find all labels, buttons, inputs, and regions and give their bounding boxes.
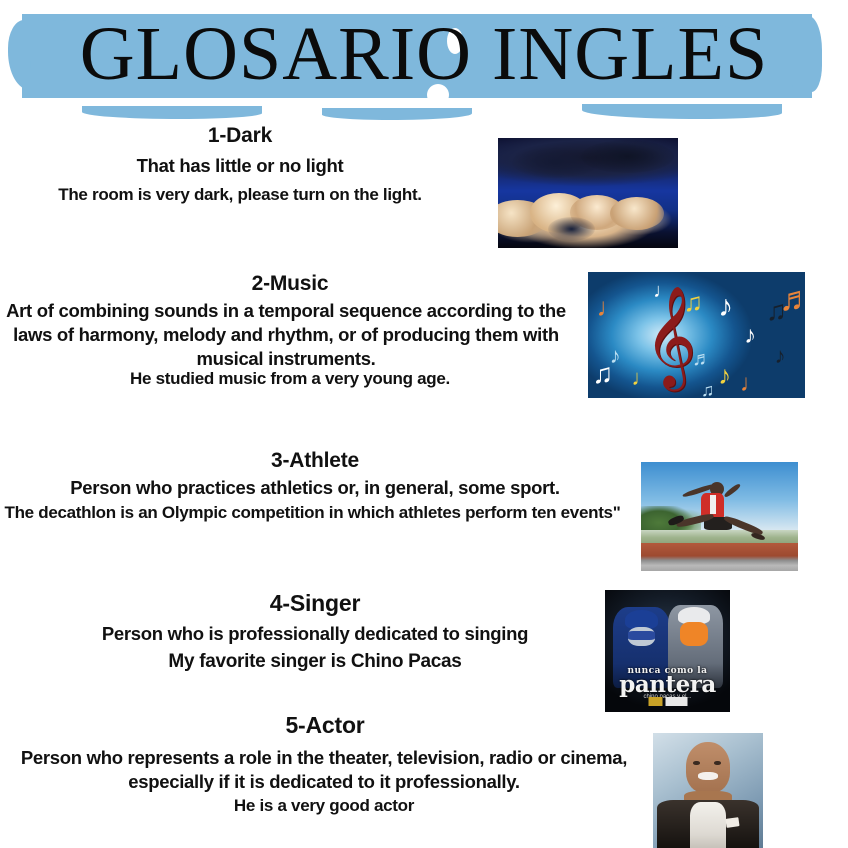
- music-note-icon: ♩: [631, 365, 653, 391]
- actor-head: [686, 742, 730, 793]
- actor-smile: [698, 772, 718, 780]
- music-note-icon: ♪: [775, 343, 786, 369]
- music-note-icon: ♩: [597, 292, 623, 323]
- entry-definition: Person who represents a role in the thea…: [0, 746, 648, 794]
- parental-advisory-badge: [648, 697, 687, 706]
- actor-eye-right: [714, 761, 722, 766]
- poster-page: GLOSARIO INGLES 1-Dark That has little o…: [0, 0, 848, 848]
- music-note-icon: ♬: [779, 280, 805, 319]
- track-layer: [641, 543, 798, 571]
- dark-cloud-blob: [548, 217, 595, 241]
- entry-image-music: 𝄞 ♫ ♪ ♪ ♫ ♬ ♩ ♪ ♫ ♩ ♪ ♩ ♬ ♪ ♩ ♫: [588, 272, 805, 398]
- entry-image-actor: [653, 733, 763, 848]
- music-note-icon: ♬: [692, 348, 712, 371]
- cloud-blob: [610, 197, 664, 230]
- music-note-icon: ♪: [718, 290, 733, 324]
- entry-definition: Art of combining sounds in a temporal se…: [0, 299, 572, 371]
- actor-shirt: [690, 802, 725, 848]
- album-bandana-left: [628, 631, 656, 640]
- entry-example: He studied music from a very young age.: [60, 367, 520, 390]
- music-note-icon: ♫: [683, 287, 703, 318]
- entry-example: The decathlon is an Olympic competition …: [0, 501, 625, 524]
- music-note-icon: ♪: [744, 322, 756, 350]
- entry-example: The room is very dark, please turn on th…: [10, 183, 470, 206]
- dark-cloud-blob: [581, 140, 675, 173]
- entry-example: My favorite singer is Chino Pacas: [40, 650, 590, 673]
- entry-example: He is a very good actor: [0, 794, 648, 817]
- entry-term: 5-Actor: [110, 712, 540, 738]
- brush-splat: [582, 104, 782, 119]
- music-note-icon: ♫: [701, 380, 715, 398]
- music-note-icon: ♩: [740, 370, 764, 398]
- entry-term: 3-Athlete: [100, 448, 530, 474]
- entry-definition: Person who is professionally dedicated t…: [40, 622, 590, 646]
- music-note-icon: ♪: [718, 360, 731, 391]
- entry-image-athlete: [641, 462, 798, 571]
- music-note-icon: ♫: [592, 358, 613, 390]
- album-bandana-right: [680, 622, 708, 646]
- entry-term: 2-Music: [80, 271, 500, 297]
- page-title: GLOSARIO INGLES: [0, 8, 848, 100]
- entry-term: 1-Dark: [30, 123, 450, 149]
- entry-term: 4-Singer: [100, 590, 530, 616]
- athlete-bib: [710, 495, 716, 515]
- brush-splat: [322, 108, 472, 120]
- music-note-icon: ♩: [653, 280, 673, 303]
- brush-splat: [82, 106, 262, 119]
- title-banner: GLOSARIO INGLES: [0, 0, 848, 112]
- entry-image-dark: [498, 138, 678, 248]
- entry-image-album: nunca como la pantera chino pacas y el..…: [605, 590, 730, 712]
- entry-definition: That has little or no light: [30, 154, 450, 178]
- entry-definition: Person who practices athletics or, in ge…: [20, 476, 610, 500]
